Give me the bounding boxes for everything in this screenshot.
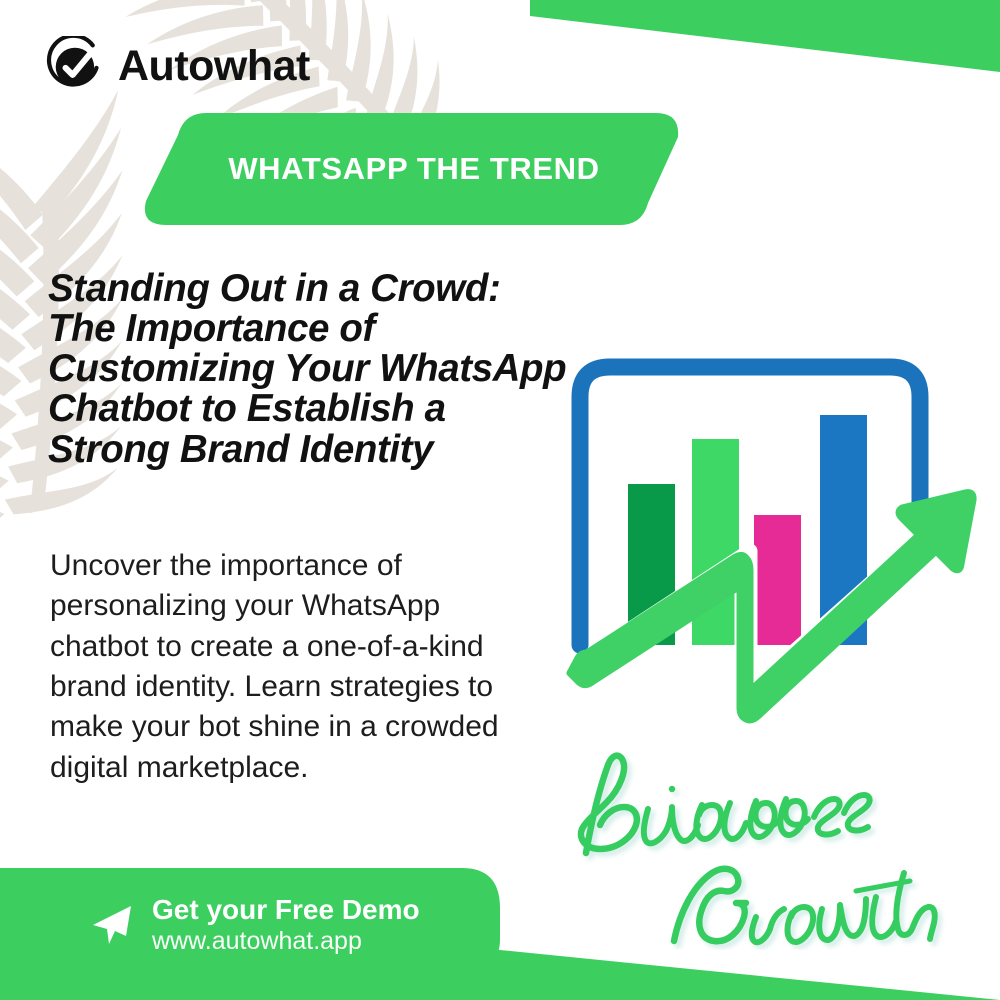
check-circle-icon bbox=[44, 36, 104, 96]
page-title: Standing Out in a Crowd: The Importance … bbox=[48, 269, 568, 470]
brand-logo: Autowhat bbox=[44, 36, 310, 96]
description-text: Uncover the importance of personalizing … bbox=[50, 546, 500, 788]
bar-3 bbox=[754, 515, 801, 645]
brand-name: Autowhat bbox=[118, 45, 310, 88]
bar-chart-illustration bbox=[556, 345, 986, 735]
top-right-green-wedge bbox=[530, 0, 1000, 108]
paper-plane-icon bbox=[88, 902, 134, 948]
promotional-poster: Autowhat WHATSAPP THE TREND Standing Out… bbox=[0, 0, 1000, 1000]
cta-url[interactable]: www.autowhat.app bbox=[152, 927, 420, 955]
category-banner: WHATSAPP THE TREND bbox=[140, 113, 680, 225]
cta-block[interactable]: Get your Free Demo www.autowhat.app bbox=[88, 894, 420, 955]
business-growth-script bbox=[560, 745, 960, 950]
cta-text-group: Get your Free Demo www.autowhat.app bbox=[152, 894, 420, 955]
banner-label: WHATSAPP THE TREND bbox=[140, 113, 680, 225]
cta-title[interactable]: Get your Free Demo bbox=[152, 894, 420, 925]
